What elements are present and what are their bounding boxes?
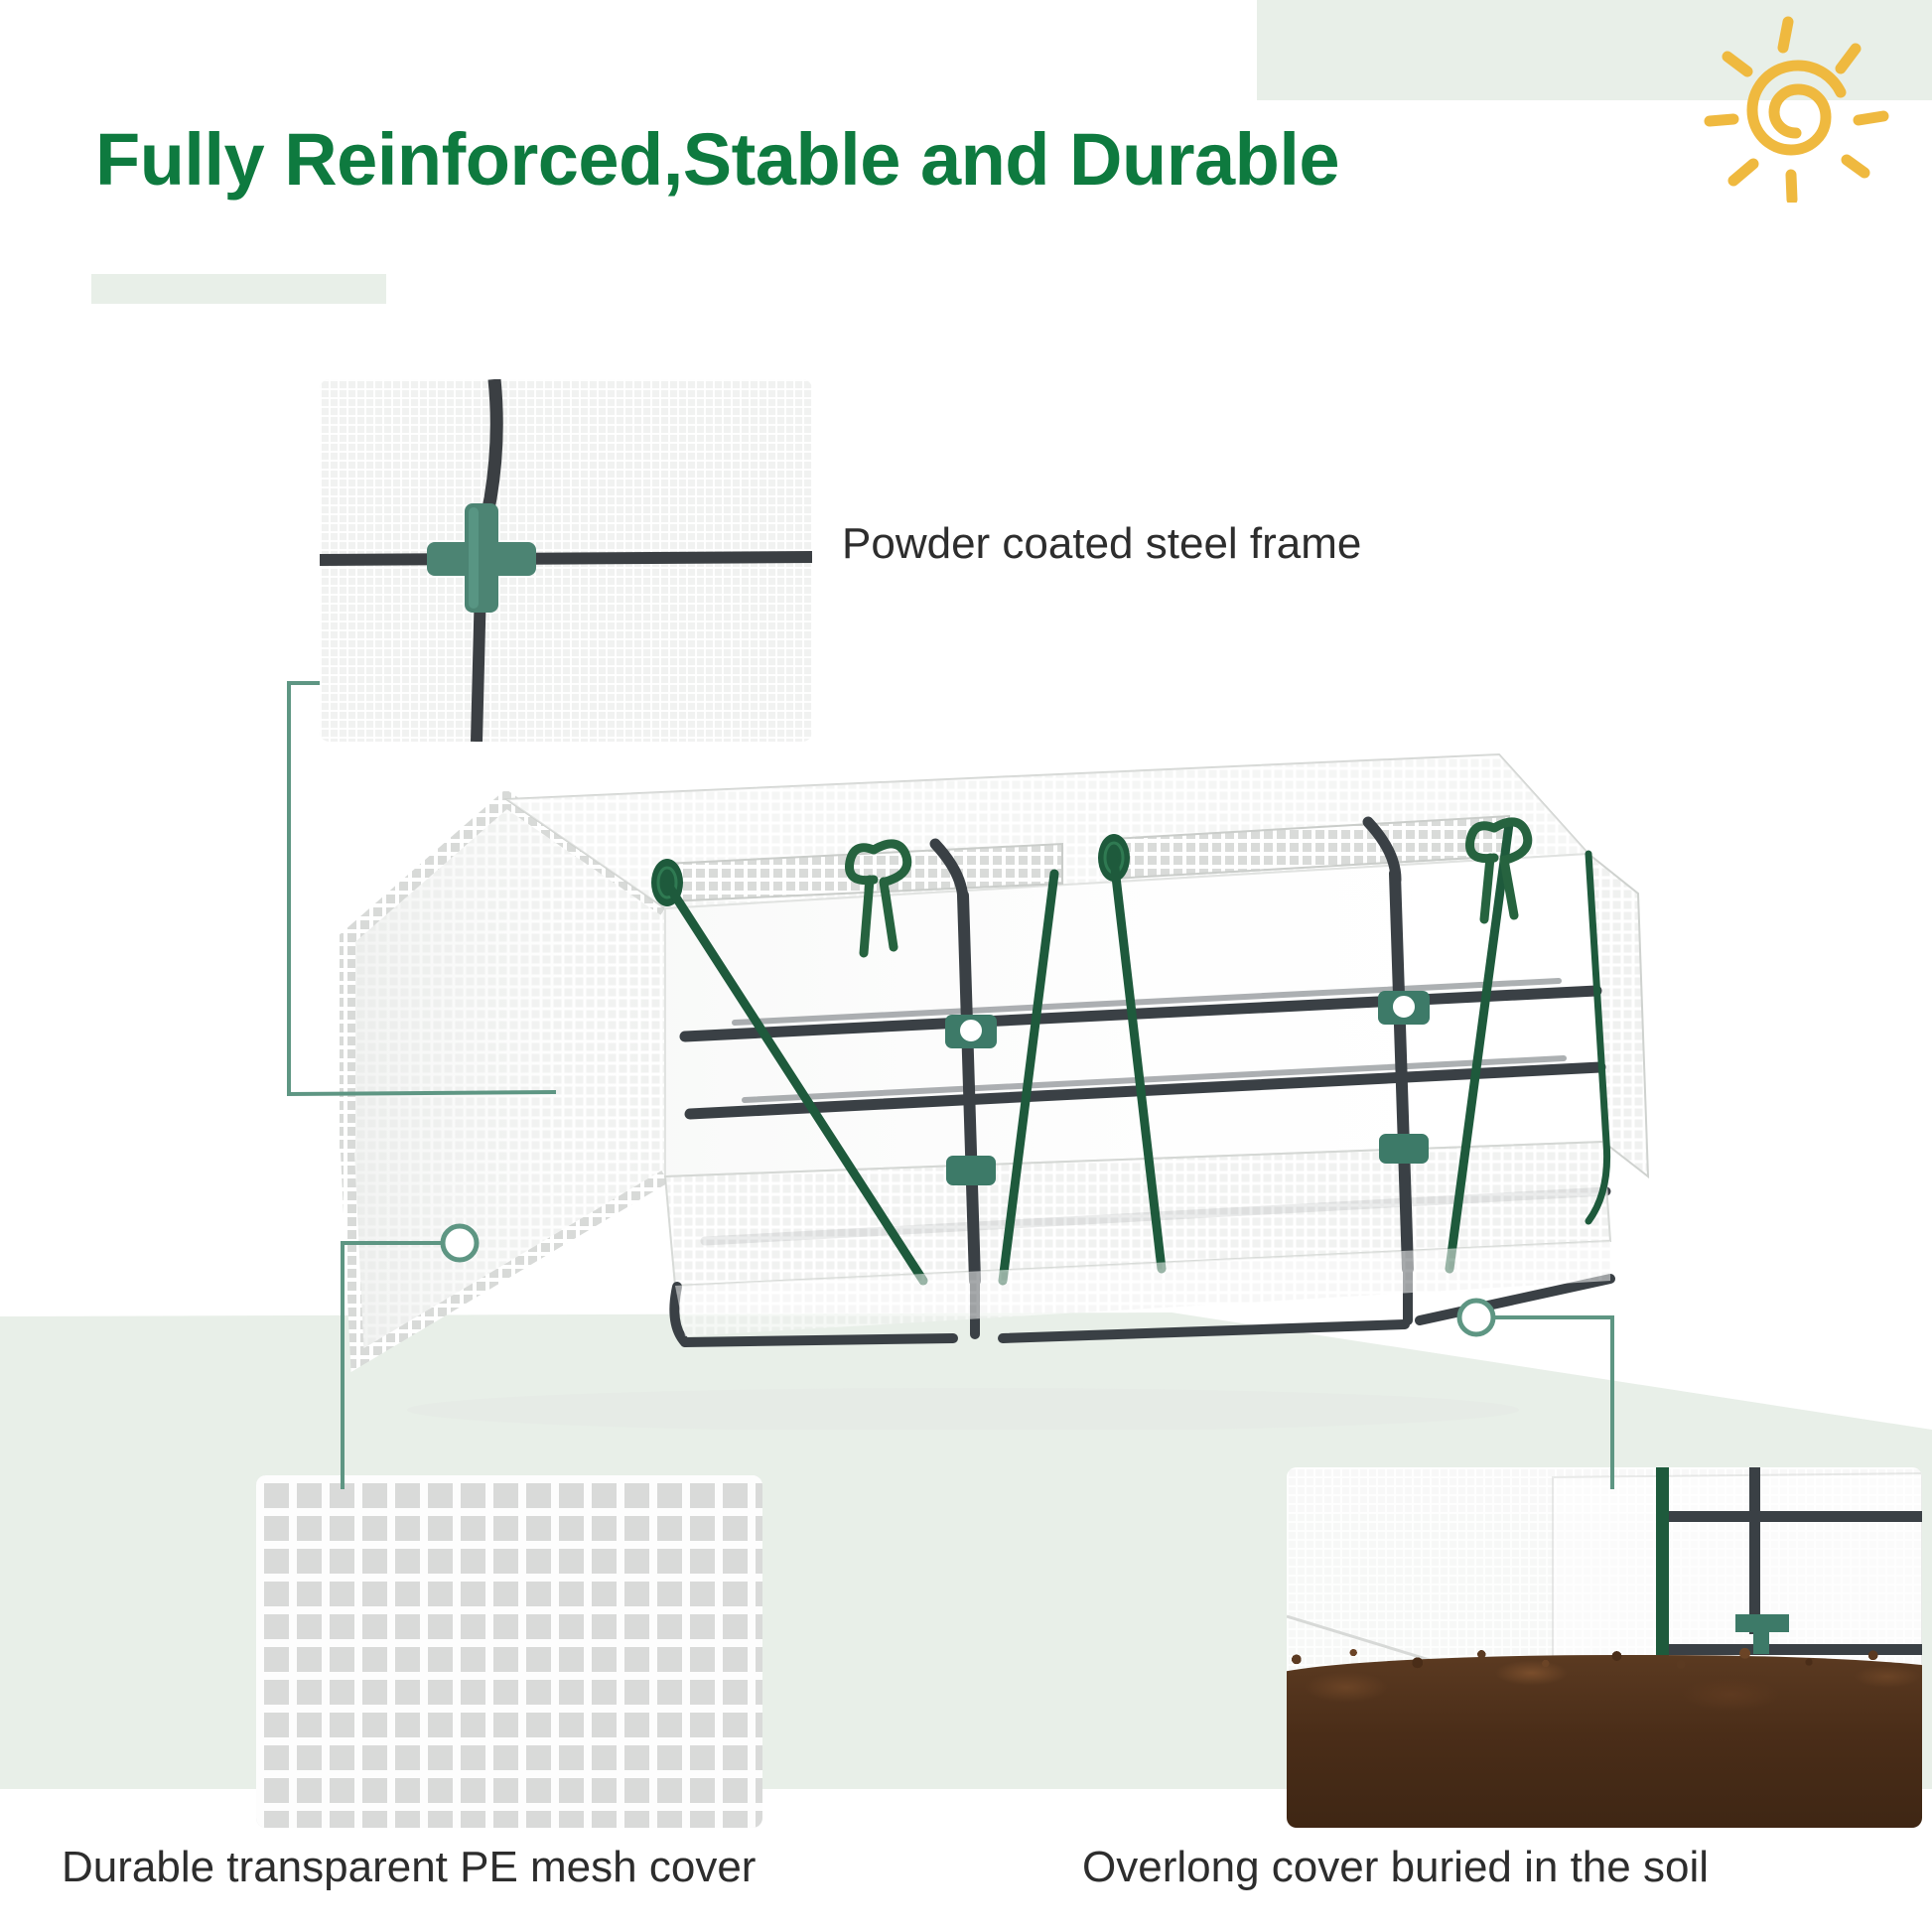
callout-label-frame: Powder coated steel frame xyxy=(842,519,1361,569)
mini-greenhouse-illustration xyxy=(268,725,1678,1430)
steel-frame-connector-photo xyxy=(320,379,812,742)
page-title: Fully Reinforced,Stable and Durable xyxy=(95,117,1339,202)
sun-spiral-icon xyxy=(1642,14,1910,203)
caption-buried-cover: Overlong cover buried in the soil xyxy=(1082,1843,1709,1892)
soil-texture xyxy=(1287,1655,1922,1828)
mesh-texture-coarse xyxy=(256,1475,762,1828)
caption-mesh-cover: Durable transparent PE mesh cover xyxy=(62,1843,756,1892)
cover-buried-soil-photo xyxy=(1287,1467,1922,1828)
title-accent-bar xyxy=(91,274,386,304)
pe-mesh-closeup-photo xyxy=(256,1475,762,1828)
infographic-page: Fully Reinforced,Stable and Durable xyxy=(0,0,1932,1932)
